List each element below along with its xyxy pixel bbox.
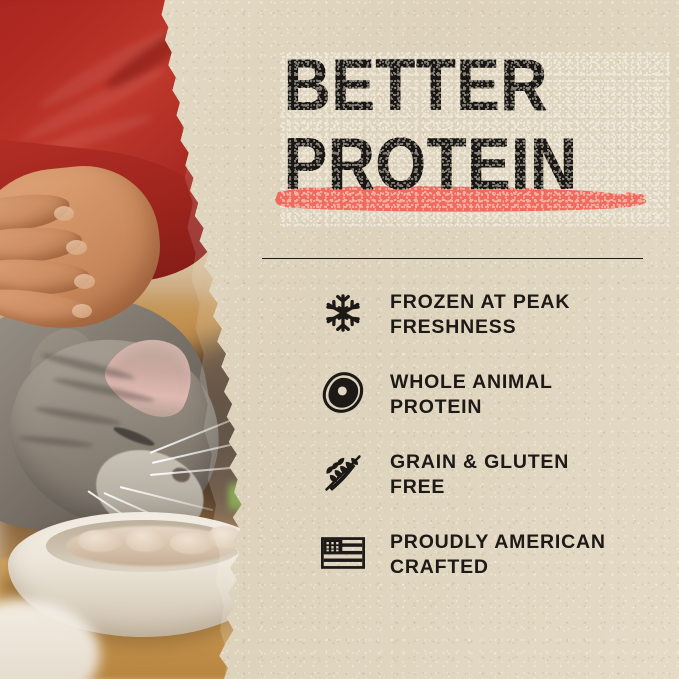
advertisement-banner: BETTER PROTEIN	[0, 0, 679, 679]
food-chunk	[78, 530, 122, 552]
feature-label: WHOLE ANIMAL PROTEIN	[390, 368, 553, 420]
fingernail	[54, 206, 74, 221]
fingernail	[74, 274, 95, 289]
headline-block: BETTER PROTEIN	[284, 52, 664, 188]
feature-item-frozen: FROZEN AT PEAK FRESHNESS	[320, 288, 670, 346]
feature-label-line2: FRESHNESS	[390, 316, 516, 338]
fingernail	[66, 240, 87, 255]
snowflake-icon	[320, 290, 366, 336]
headline-line-2: PROTEIN	[284, 131, 679, 198]
feature-label-line2: PROTEIN	[390, 396, 482, 418]
section-divider	[262, 258, 643, 259]
feature-item-american: PROUDLY AMERICAN CRAFTED	[320, 528, 670, 586]
feature-label-line2: FREE	[390, 476, 445, 498]
feature-label-line1: FROZEN AT PEAK	[390, 291, 570, 313]
feature-item-grain-free: GRAIN & GLUTEN FREE	[320, 448, 670, 506]
feature-label-line1: WHOLE ANIMAL	[390, 371, 553, 393]
headline-line-1: BETTER	[284, 52, 679, 119]
feature-label: GRAIN & GLUTEN FREE	[390, 448, 569, 500]
feature-item-protein: WHOLE ANIMAL PROTEIN	[320, 368, 670, 426]
wheat-crossed-icon	[320, 450, 366, 496]
food-chunk	[126, 528, 166, 552]
fingernail	[72, 304, 92, 318]
steak-icon	[320, 370, 366, 416]
feature-label: PROUDLY AMERICAN CRAFTED	[390, 528, 606, 580]
feature-label-line1: GRAIN & GLUTEN	[390, 451, 569, 473]
feature-label: FROZEN AT PEAK FRESHNESS	[390, 288, 570, 340]
feature-list: FROZEN AT PEAK FRESHNESS WHOLE ANIMAL PR…	[320, 288, 670, 608]
panel-content: BETTER PROTEIN	[284, 0, 679, 679]
feature-label-line1: PROUDLY AMERICAN	[390, 531, 606, 553]
feature-label-line2: CRAFTED	[390, 556, 489, 578]
us-flag-icon	[320, 530, 366, 576]
